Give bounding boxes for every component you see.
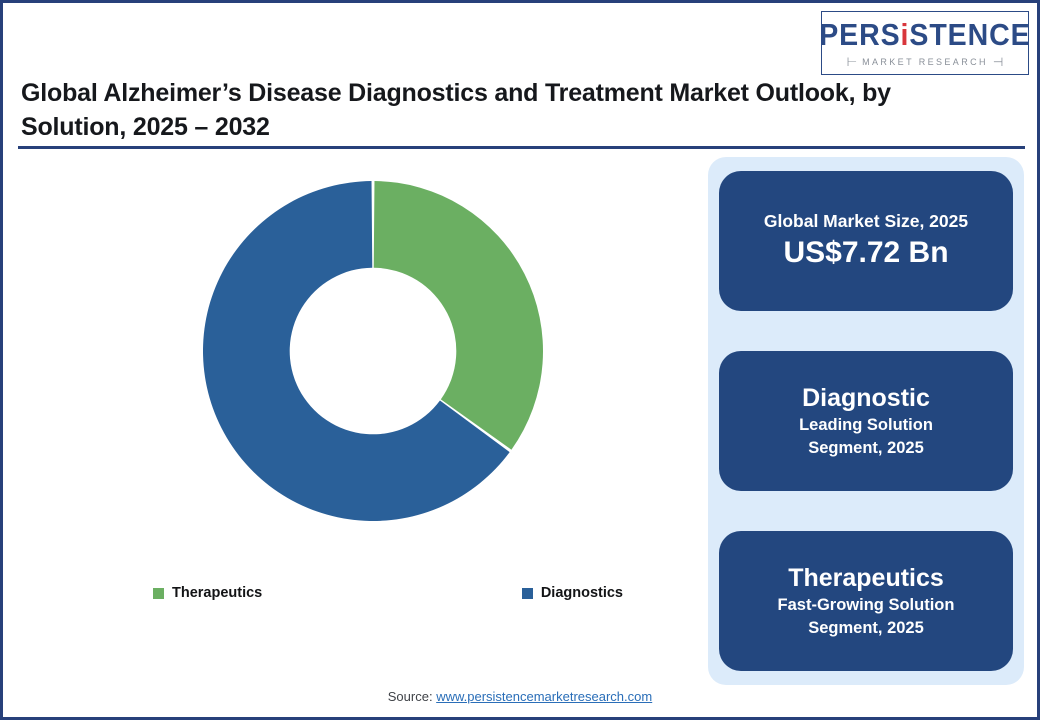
title-divider bbox=[18, 146, 1025, 149]
logo-word-red-i: i bbox=[901, 17, 910, 52]
logo-wordmark: PERSiSTENCE bbox=[819, 19, 1030, 50]
logo-subtitle: MARKET RESEARCH bbox=[862, 57, 988, 67]
stat-card-fastest-growing-segment[interactable]: Therapeutics Fast-Growing Solution Segme… bbox=[719, 531, 1013, 671]
source-line: Source: www.persistencemarketresearch.co… bbox=[3, 689, 1037, 704]
fastest-segment-name: Therapeutics bbox=[788, 563, 944, 593]
leading-segment-name: Diagnostic bbox=[802, 383, 930, 413]
logo-word-part2: STENCE bbox=[910, 17, 1031, 52]
logo-bracket-left-icon: ⊢ bbox=[847, 56, 857, 68]
legend-label-therapeutics: Therapeutics bbox=[172, 585, 262, 601]
infographic-canvas: PERSiSTENCE ⊢ MARKET RESEARCH ⊣ Global A… bbox=[0, 0, 1040, 720]
legend-item-therapeutics[interactable]: Therapeutics bbox=[153, 585, 262, 601]
market-size-value: US$7.72 Bn bbox=[783, 234, 948, 272]
fastest-segment-sub-line2: Segment, 2025 bbox=[808, 618, 924, 639]
legend-swatch-diagnostics-icon bbox=[522, 588, 533, 599]
source-prefix: Source: bbox=[388, 689, 436, 704]
persistence-market-research-logo: PERSiSTENCE ⊢ MARKET RESEARCH ⊣ bbox=[821, 11, 1029, 75]
donut-slice-group bbox=[203, 181, 543, 521]
donut-chart-area bbox=[13, 155, 693, 575]
page-title: Global Alzheimer’s Disease Diagnostics a… bbox=[21, 77, 981, 144]
market-size-label: Global Market Size, 2025 bbox=[764, 210, 968, 232]
fastest-segment-sub-line1: Fast-Growing Solution bbox=[778, 595, 955, 616]
logo-word-part1: PERS bbox=[819, 17, 900, 52]
leading-segment-sub-line2: Segment, 2025 bbox=[808, 438, 924, 459]
stats-panel: Global Market Size, 2025 US$7.72 Bn Diag… bbox=[708, 157, 1024, 685]
legend-swatch-therapeutics-icon bbox=[153, 588, 164, 599]
legend-label-diagnostics: Diagnostics bbox=[541, 585, 623, 601]
legend-item-diagnostics[interactable]: Diagnostics bbox=[522, 585, 623, 601]
donut-chart-svg bbox=[203, 181, 543, 521]
leading-segment-sub-line1: Leading Solution bbox=[799, 415, 933, 436]
source-link[interactable]: www.persistencemarketresearch.com bbox=[436, 689, 652, 704]
donut-slice-therapeutics[interactable] bbox=[374, 181, 543, 450]
chart-legend: Therapeutics Diagnostics bbox=[153, 585, 623, 601]
logo-bracket-right-icon: ⊣ bbox=[993, 56, 1003, 68]
donut-chart bbox=[203, 181, 543, 521]
stat-card-market-size[interactable]: Global Market Size, 2025 US$7.72 Bn bbox=[719, 171, 1013, 311]
logo-subtitle-row: ⊢ MARKET RESEARCH ⊣ bbox=[847, 56, 1004, 68]
stat-card-leading-segment[interactable]: Diagnostic Leading Solution Segment, 202… bbox=[719, 351, 1013, 491]
